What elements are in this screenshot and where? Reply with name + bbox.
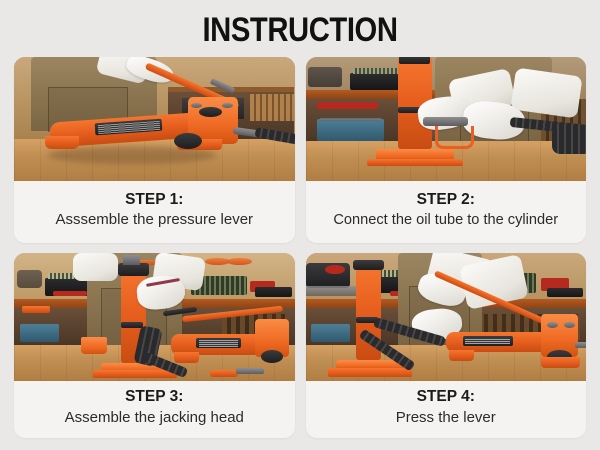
step-1-caption: STEP 1: Asssemble the pressure lever <box>14 181 295 243</box>
step-card-2: STEP 2: Connect the oil tube to the cyli… <box>306 57 587 243</box>
step-3-caption: STEP 3: Assemble the jacking head <box>14 381 295 439</box>
instruction-page: INSTRUCTION <box>0 0 600 450</box>
step-2-label: STEP 2: <box>417 190 475 211</box>
step-2-photo <box>306 57 587 181</box>
step-2-caption: STEP 2: Connect the oil tube to the cyli… <box>306 181 587 243</box>
steps-grid: STEP 1: Asssemble the pressure lever <box>14 57 586 438</box>
step-3-photo <box>14 253 295 381</box>
step-card-4: STEP 4: Press the lever <box>306 253 587 439</box>
step-1-label: STEP 1: <box>125 190 183 211</box>
step-card-1: STEP 1: Asssemble the pressure lever <box>14 57 295 243</box>
step-4-description: Press the lever <box>396 408 496 428</box>
page-title: INSTRUCTION <box>42 0 558 47</box>
step-2-description: Connect the oil tube to the cylinder <box>333 211 558 230</box>
step-1-description: Asssemble the pressure lever <box>55 210 253 230</box>
step-card-3: STEP 3: Assemble the jacking head <box>14 253 295 439</box>
step-3-description: Assemble the jacking head <box>65 408 244 428</box>
step-4-photo <box>306 253 587 381</box>
step-4-caption: STEP 4: Press the lever <box>306 381 587 439</box>
step-1-photo <box>14 57 295 181</box>
step-3-label: STEP 3: <box>125 387 183 408</box>
step-4-label: STEP 4: <box>417 387 475 408</box>
